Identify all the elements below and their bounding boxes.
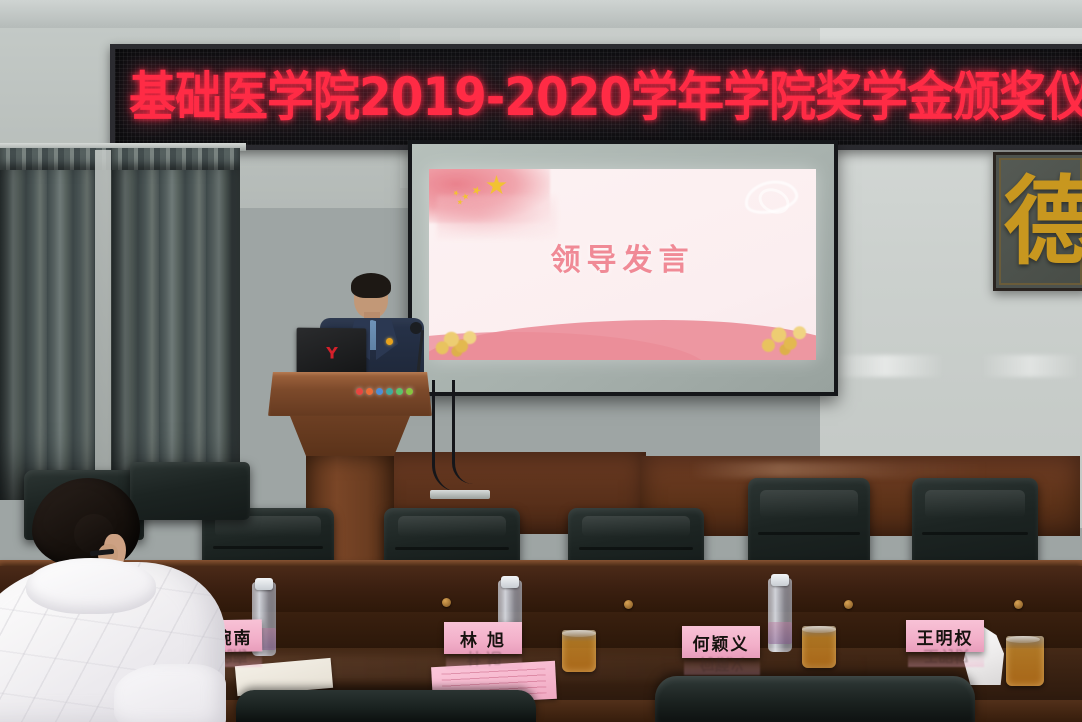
presenter-hair bbox=[351, 273, 391, 298]
drawer-knob-4[interactable] bbox=[1014, 600, 1023, 609]
foreground-chair-right bbox=[655, 676, 975, 722]
chair-highlight bbox=[582, 516, 691, 537]
projection-screen: 领导发言 bbox=[408, 140, 838, 396]
bottle-cap-3 bbox=[771, 574, 789, 586]
curtain-panel-right bbox=[112, 148, 240, 500]
chair-highlight bbox=[398, 516, 507, 537]
podium-button-lime[interactable] bbox=[406, 388, 413, 395]
attendee-jacket-hood bbox=[26, 558, 156, 614]
chair-seam bbox=[758, 532, 861, 535]
slide-title: 领导发言 bbox=[429, 235, 816, 279]
led-banner-text: 基础医学院2019-2020学年学院奖学金颁奖仪式 bbox=[115, 71, 1082, 124]
wood-panel-reflection bbox=[690, 462, 990, 478]
chair-seam bbox=[579, 547, 693, 550]
flag-watercolor-splash-soft bbox=[437, 195, 557, 239]
conference-room-photo: 基础医学院2019-2020学年学院奖学金颁奖仪式 领导发言 德 bbox=[0, 0, 1082, 722]
presenter-lapel-badge bbox=[386, 338, 393, 345]
bottle-cap-1 bbox=[255, 578, 273, 590]
window-gap bbox=[95, 150, 111, 495]
podium-button-blue[interactable] bbox=[376, 388, 383, 395]
calligraphy-character: 德 bbox=[1004, 174, 1082, 270]
podium-top bbox=[268, 372, 432, 416]
chair-seam bbox=[395, 547, 509, 550]
gold-foliage-left bbox=[433, 324, 479, 358]
cable-2 bbox=[452, 380, 473, 484]
bottle-cap-2 bbox=[501, 576, 519, 588]
name-card-4-reflection: 王明权 bbox=[908, 653, 984, 667]
tea-glass-1 bbox=[562, 630, 596, 672]
presentation-slide: 领导发言 bbox=[429, 169, 816, 360]
bottle-label-3 bbox=[768, 622, 792, 644]
podium-body bbox=[290, 416, 410, 458]
wall-light-reflection bbox=[830, 355, 1080, 377]
drawer-knob-2[interactable] bbox=[624, 600, 633, 609]
glass-rim bbox=[1006, 636, 1040, 643]
podium-button-teal[interactable] bbox=[386, 388, 393, 395]
tea-glass-3 bbox=[1006, 636, 1044, 686]
chair-highlight bbox=[760, 490, 858, 519]
laptop-logo: Y bbox=[326, 343, 338, 362]
seated-attendee bbox=[0, 478, 236, 722]
chair-highlight bbox=[925, 490, 1026, 519]
drawer-knob-3[interactable] bbox=[844, 600, 853, 609]
laptop: Y bbox=[297, 328, 367, 377]
podium-button-orange[interactable] bbox=[366, 388, 373, 395]
curtain-header-right bbox=[112, 148, 240, 170]
led-scrolling-banner: 基础医学院2019-2020学年学院奖学金颁奖仪式 bbox=[110, 44, 1082, 150]
equipment-tray bbox=[430, 490, 490, 499]
foreground-chair-center bbox=[236, 690, 536, 722]
glass-rim bbox=[802, 626, 836, 633]
podium-button-red[interactable] bbox=[356, 388, 363, 395]
calligraphy-mat: 德 bbox=[999, 158, 1082, 285]
podium-button-green[interactable] bbox=[396, 388, 403, 395]
drawer-knob-1[interactable] bbox=[442, 598, 451, 607]
podium-control-buttons[interactable] bbox=[356, 386, 416, 396]
name-card-2-reflection: 林 旭 bbox=[446, 655, 522, 669]
glass-rim bbox=[562, 630, 596, 637]
attendee-jacket-sleeve bbox=[114, 664, 226, 722]
name-card-3-reflection: 何颖义 bbox=[684, 659, 760, 675]
tea-glass-2 bbox=[802, 626, 836, 668]
gold-foliage-right bbox=[758, 316, 810, 358]
framed-calligraphy: 德 bbox=[993, 152, 1082, 291]
chair-seam bbox=[922, 532, 1028, 535]
